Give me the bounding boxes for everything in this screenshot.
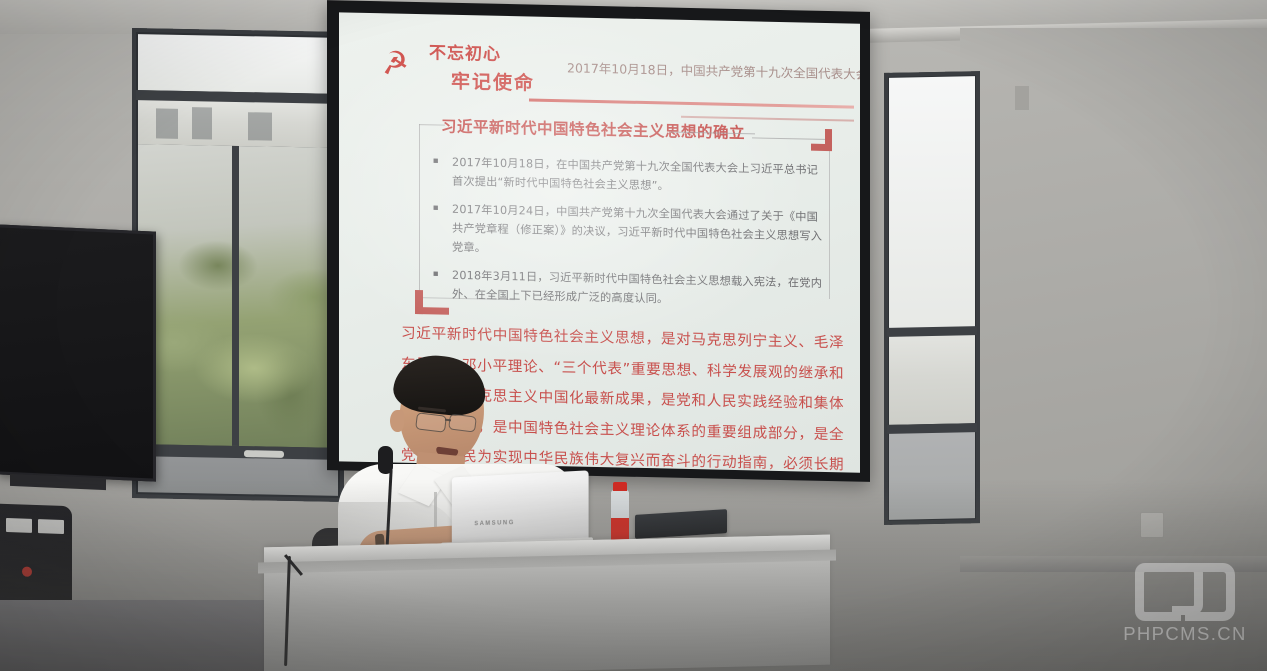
window-right (884, 71, 980, 525)
pc-logo-icon (1135, 563, 1235, 621)
photo-scene: ☭ 不忘初心 牢记使命 2017年10月18日，中国共产党第十九次全国代表大会在… (0, 0, 1267, 671)
logo-letter-p (1135, 563, 1181, 621)
eyeglasses-icon (448, 413, 477, 432)
square-bullet-icon: ■ (433, 202, 446, 256)
bullet-text: 2017年10月18日，在中国共产党第十九次全国代表大会上习近平总书记首次提出“… (452, 153, 824, 199)
window-pane-top (138, 34, 338, 94)
box-border-left (419, 124, 420, 292)
bullet-text: 2018年3月11日，习近平新时代中国特色社会主义思想载入宪法，在党内外、在全国… (452, 266, 824, 312)
window-pane-bright (889, 76, 975, 330)
exterior-building-window (192, 107, 212, 139)
slide-bullet-box: 习近平新时代中国特色社会主义思想的确立 ■ 2017年10月18日，在中国共产党… (419, 116, 830, 307)
square-bullet-icon: ■ (433, 155, 446, 190)
box-border-right (829, 139, 830, 299)
window-left (132, 28, 344, 502)
display-bezel (0, 224, 156, 481)
slide-header: ☭ 不忘初心 牢记使命 2017年10月18日，中国共产党第十九次全国代表大会在… (381, 39, 850, 111)
window-mullion (232, 146, 239, 446)
wall-display-screen (0, 224, 156, 481)
window-handle[interactable] (244, 450, 284, 458)
slide-slogan: 不忘初心 牢记使命 (429, 38, 535, 95)
exterior-building-window (156, 108, 178, 138)
list-item: ■ 2018年3月11日，习近平新时代中国特色社会主义思想载入宪法，在党内外、在… (433, 265, 824, 312)
header-rule (529, 98, 854, 108)
ear (390, 410, 404, 432)
slide-section-title: 习近平新时代中国特色社会主义思想的确立 (441, 115, 745, 144)
watermark: PHPCMS.CN (1121, 561, 1249, 657)
bullet-text: 2017年10月24日，中国共产党第十九次全国代表大会通过了关于《中国共产党章程… (452, 200, 824, 265)
logo-letter-c (1185, 563, 1235, 621)
watermark-text: PHPCMS.CN (1121, 623, 1249, 645)
slogan-line-2: 牢记使命 (451, 67, 535, 96)
exterior-building-window (248, 112, 272, 140)
list-item: ■ 2017年10月18日，在中国共产党第十九次全国代表大会上习近平总书记首次提… (433, 152, 824, 199)
window-pane-upper (138, 100, 338, 148)
window-pane-lower (889, 335, 975, 425)
bullet-list: ■ 2017年10月18日，在中国共产党第十九次全国代表大会上习近平总书记首次提… (433, 152, 824, 321)
square-bullet-icon: ■ (433, 268, 446, 303)
wall-patch (1015, 86, 1029, 110)
lower-wall-shadow (0, 480, 1267, 671)
slide-header-date: 2017年10月18日，中国共产党第十九次全国代表大会在北京胜利召开 (567, 57, 850, 82)
corner-accent-top-right (819, 129, 832, 151)
party-emblem-hammer-sickle-icon: ☭ (379, 44, 427, 82)
list-item: ■ 2017年10月24日，中国共产党第十九次全国代表大会通过了关于《中国共产党… (433, 199, 824, 265)
slogan-line-1: 不忘初心 (429, 38, 535, 65)
eyeglasses-icon (415, 412, 447, 433)
